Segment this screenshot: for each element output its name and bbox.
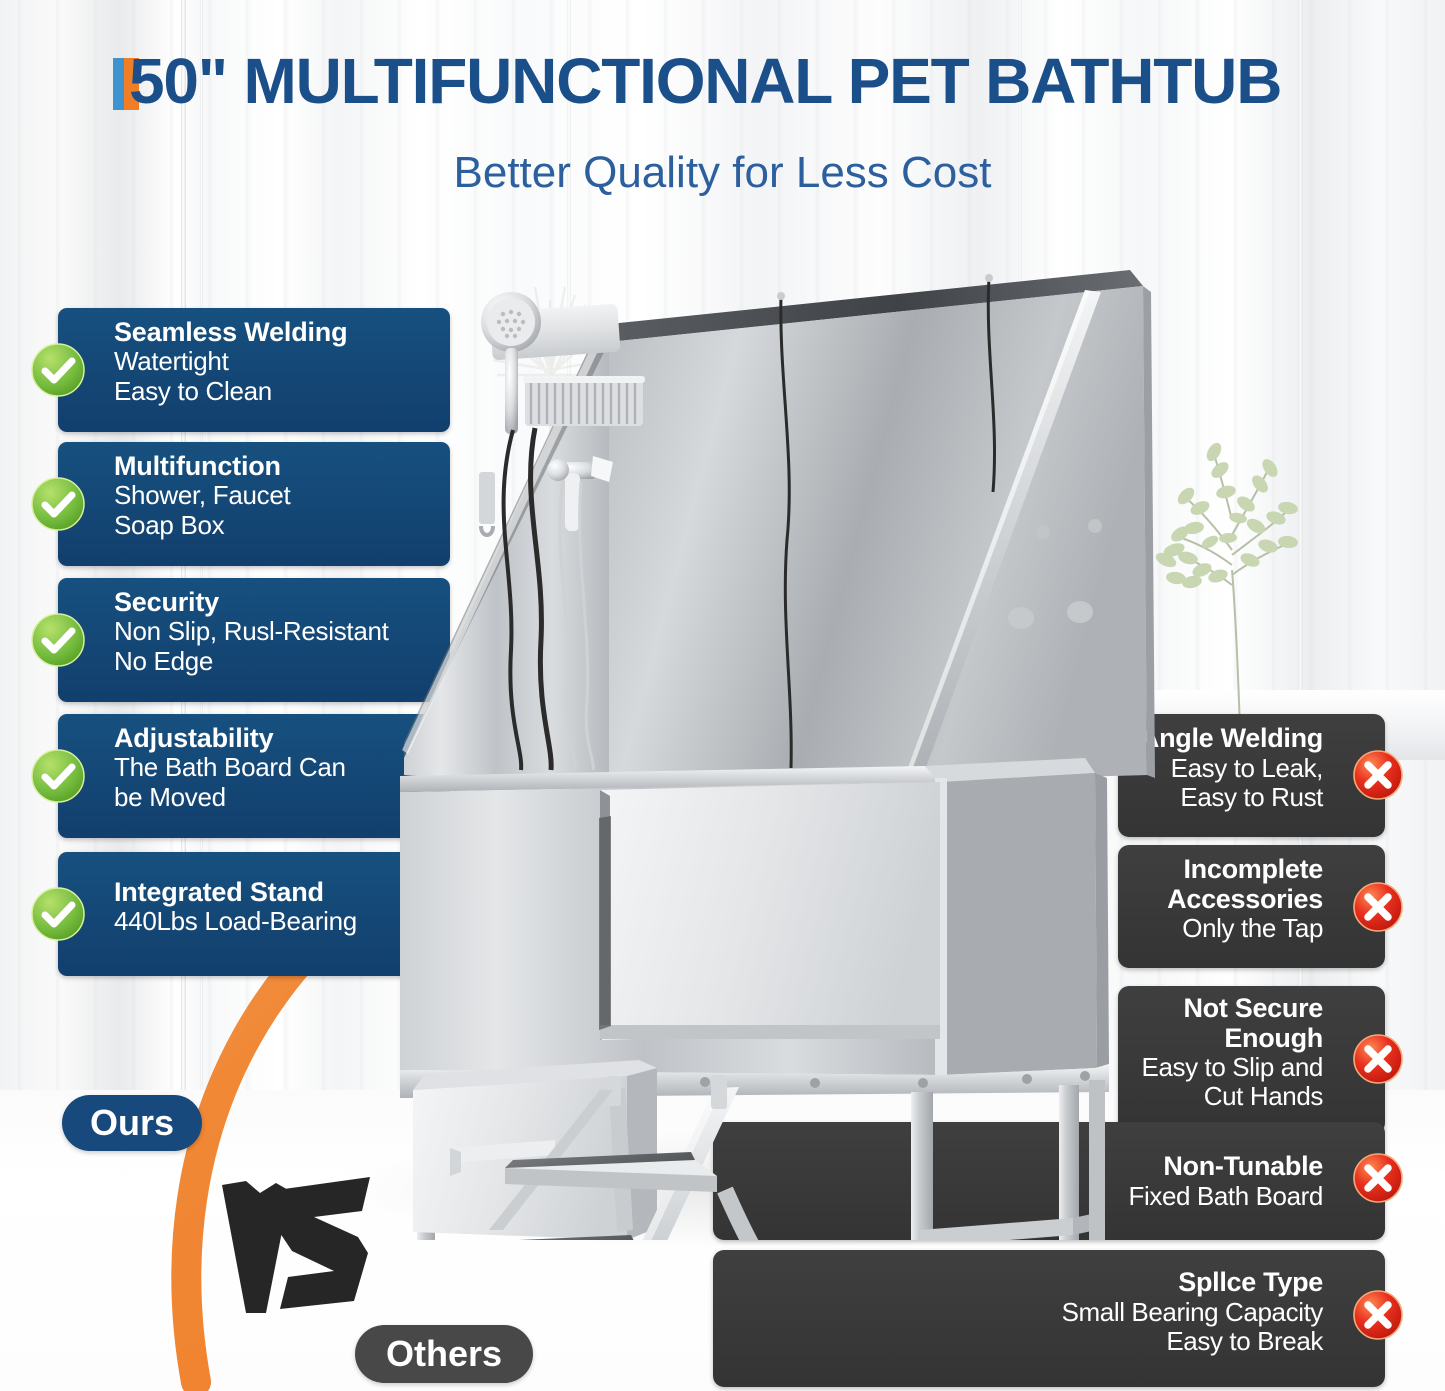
drawback-line: Easy to Slip and [1134,1053,1323,1082]
feature-line: Watertight [114,347,436,376]
check-icon [31,749,85,803]
feature-line: The Bath Board Can [114,753,436,782]
drawback-line: Only the Tap [1134,914,1323,943]
drawback-title: Accessories [1134,885,1323,915]
drawback-card-others[interactable]: Spllce Type Small Bearing Capacity Easy … [713,1250,1385,1387]
feature-card-ours[interactable]: Security Non Slip, Rusl-Resistant No Edg… [58,578,450,702]
drawback-line: Easy to Rust [1134,783,1323,812]
feature-line: 440Lbs Load-Bearing [114,907,436,936]
feature-line: No Edge [114,647,436,676]
drawback-line: Cut Hands [1134,1082,1323,1111]
drawback-card-others[interactable]: Incomplete Accessories Only the Tap [1118,845,1385,968]
feature-title: Multifunction [114,451,436,481]
drawback-line: Easy to Leak, [1134,754,1323,783]
header: 50" MULTIFUNCTIONAL PET BATHTUB Better Q… [0,0,1445,105]
drawback-card-others[interactable]: Angle Welding Easy to Leak, Easy to Rust [1118,714,1385,837]
drawback-title: Incomplete [1134,855,1323,885]
ours-badge: Ours [62,1095,202,1151]
feature-line: be Moved [114,783,436,812]
drawback-card-others[interactable]: Not Secure Enough Easy to Slip and Cut H… [1118,986,1385,1134]
drawback-title: Angle Welding [1134,724,1323,754]
drawback-title: Spllce Type [729,1268,1323,1298]
feature-line: Soap Box [114,511,436,540]
feature-card-ours[interactable]: Integrated Stand 440Lbs Load-Bearing [58,852,450,976]
drawback-line: Small Bearing Capacity [729,1298,1323,1327]
cross-icon [1353,750,1403,800]
feature-line: Non Slip, Rusl-Resistant [114,617,436,646]
check-icon [31,887,85,941]
feature-card-ours[interactable]: Multifunction Shower, Faucet Soap Box [58,442,450,566]
others-badge: Others [355,1325,533,1383]
feature-title: Seamless Welding [114,317,436,347]
potted-plant [1128,400,1358,730]
page-title: 50" MULTIFUNCTIONAL PET BATHTUB [129,44,1369,118]
drawback-title: Not Secure [1134,994,1323,1024]
cross-icon [1353,1034,1403,1084]
accent-bar-blue [113,58,124,110]
feature-title: Integrated Stand [114,877,436,907]
cross-icon [1353,1153,1403,1203]
feature-card-ours[interactable]: Adjustability The Bath Board Can be Move… [58,714,450,838]
product-image [395,230,1155,1240]
feature-title: Adjustability [114,723,436,753]
cross-icon [1353,1290,1403,1340]
feature-line: Shower, Faucet [114,481,436,510]
drawback-title: Enough [1134,1024,1323,1054]
vs-mark [218,1175,388,1325]
feature-line: Easy to Clean [114,377,436,406]
drawback-line: Easy to Break [729,1327,1323,1356]
check-icon [31,343,85,397]
page-subtitle: Better Quality for Less Cost [0,148,1445,198]
check-icon [31,477,85,531]
cross-icon [1353,882,1403,932]
check-icon [31,613,85,667]
feature-card-ours[interactable]: Seamless Welding Watertight Easy to Clea… [58,308,450,432]
feature-title: Security [114,587,436,617]
